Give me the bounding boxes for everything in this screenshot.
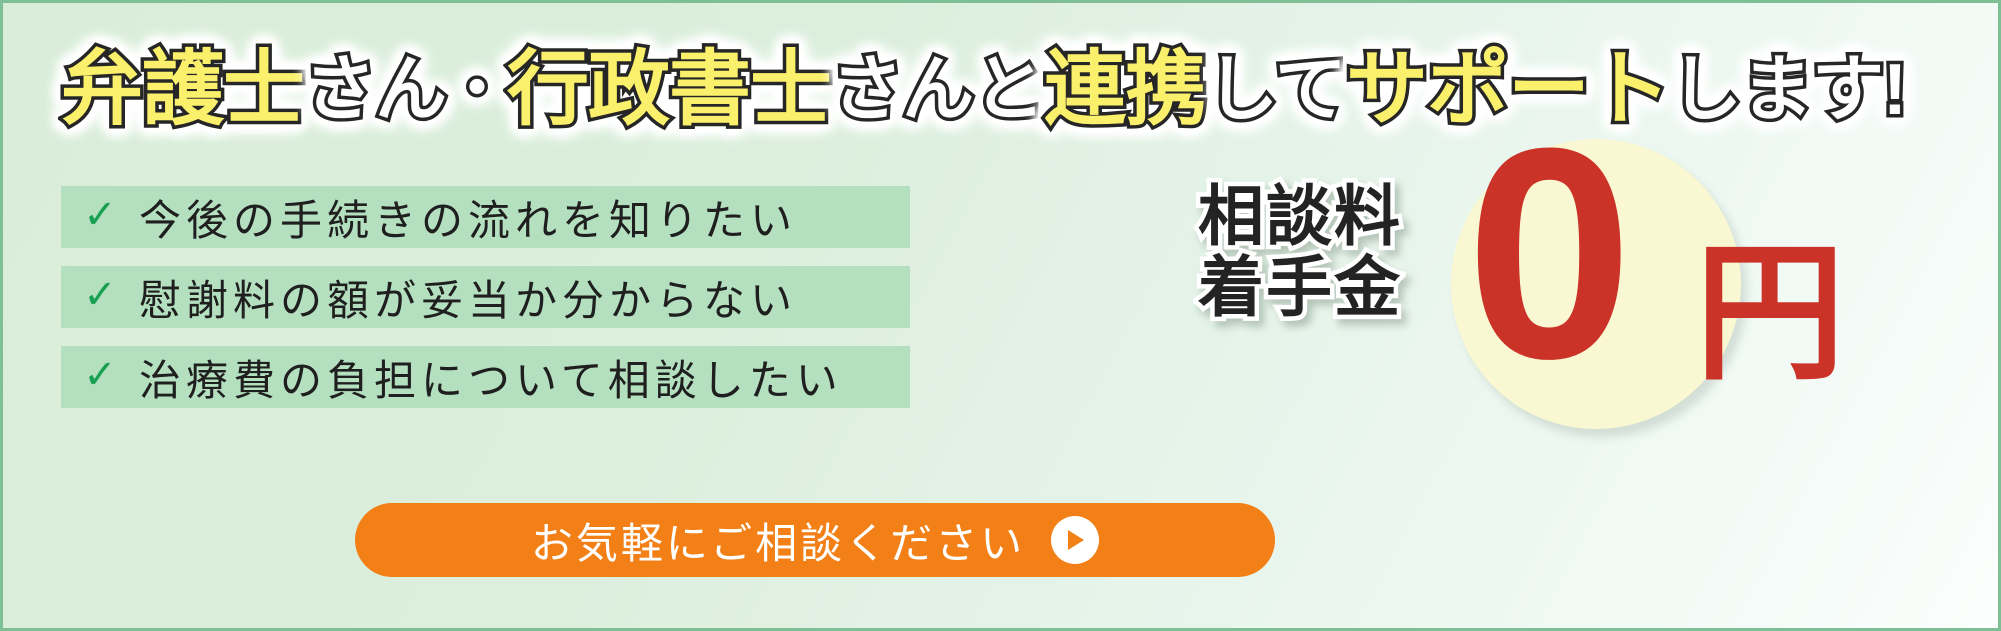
headline-segment-shite: して <box>1206 54 1346 126</box>
headline-separator-dot: ・ <box>446 59 507 121</box>
headline-segment-lawyer: 弁護士 <box>61 49 304 131</box>
check-icon: ✓ <box>61 355 139 399</box>
headline-segment-san-1: さん <box>304 54 446 126</box>
check-icon: ✓ <box>61 195 139 239</box>
list-item: ✓ 今後の手続きの流れを知りたい <box>61 186 910 248</box>
checklist: ✓ 今後の手続きの流れを知りたい ✓ 慰謝料の額が妥当か分からない ✓ 治療費の… <box>61 186 910 426</box>
consult-cta-button[interactable]: お気軽にご相談ください <box>355 503 1275 577</box>
price-amount: 0 <box>1466 103 1625 403</box>
check-icon: ✓ <box>61 275 139 319</box>
headline-segment-scrivener: 行政書士 <box>507 49 831 131</box>
headline-segment-santo: さんと <box>831 54 1044 126</box>
list-item-label: 今後の手続きの流れを知りたい <box>139 187 797 248</box>
headline-segment-shimasu: します! <box>1670 54 1906 126</box>
consult-cta-label: お気軽にご相談ください <box>531 510 1025 571</box>
list-item-label: 治療費の負担について相談したい <box>139 347 843 408</box>
list-item: ✓ 慰謝料の額が妥当か分からない <box>61 266 910 328</box>
headline-segment-cooperate: 連携 <box>1044 49 1206 131</box>
play-arrow-icon <box>1051 516 1099 564</box>
price-currency: 円 <box>1695 238 1845 388</box>
promo-banner: 弁護士 さん ・ 行政書士 さんと 連携 して サポート します! ✓ 今後の手… <box>0 0 2001 631</box>
list-item: ✓ 治療費の負担について相談したい <box>61 346 910 408</box>
list-item-label: 慰謝料の額が妥当か分からない <box>139 267 797 328</box>
price-panel: 相談料 着手金 0 円 <box>1198 133 1988 403</box>
headline: 弁護士 さん ・ 行政書士 さんと 連携 して サポート します! <box>61 41 1961 139</box>
